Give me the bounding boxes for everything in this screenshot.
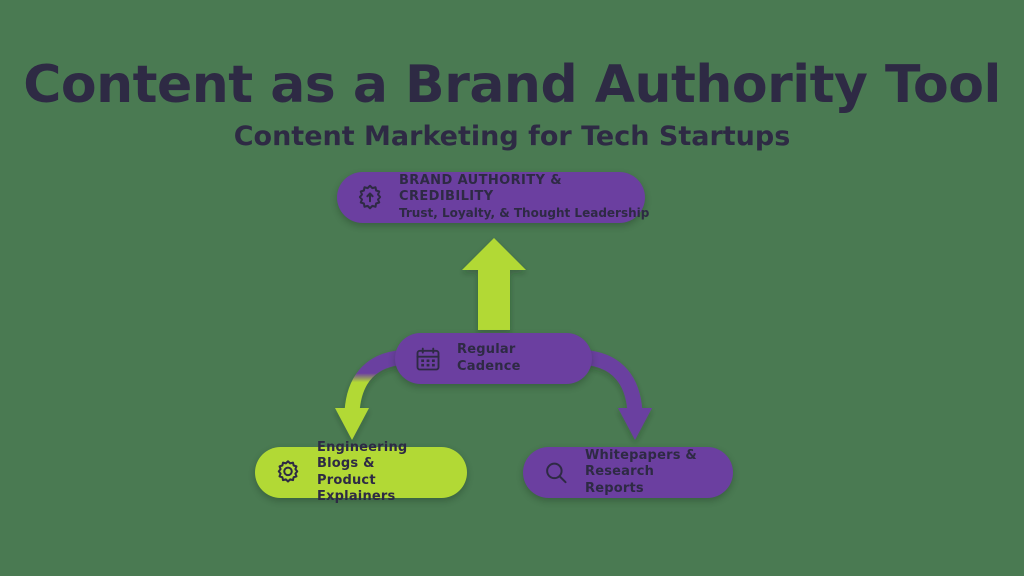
node-brand-authority-sublabel: Trust, Loyalty, & Thought Leadership (399, 206, 627, 222)
node-whitepapers-text: Whitepapers & Research Reports (585, 448, 715, 497)
calendar-icon (411, 342, 445, 376)
magnifier-icon (539, 456, 573, 490)
node-regular-cadence-label: Regular Cadence (457, 342, 574, 375)
page-subtitle: Content Marketing for Tech Startups (0, 121, 1024, 153)
node-regular-cadence[interactable]: Regular Cadence (395, 333, 592, 384)
arrow-cadence-to-whitepapers (590, 358, 652, 440)
node-engineering-blogs-text: Engineering Blogs & Product Explainers (317, 440, 449, 505)
title-block: Content as a Brand Authority Tool Conten… (0, 58, 1024, 153)
arrow-cadence-to-engineering (335, 358, 397, 440)
arrow-cadence-to-authority (462, 238, 526, 330)
node-brand-authority-label: BRAND AUTHORITY & CREDIBILITY (399, 173, 627, 206)
gear-up-arrow-icon (353, 181, 387, 215)
node-brand-authority-text: BRAND AUTHORITY & CREDIBILITY Trust, Loy… (399, 173, 627, 222)
node-brand-authority[interactable]: BRAND AUTHORITY & CREDIBILITY Trust, Loy… (337, 172, 645, 223)
node-whitepapers[interactable]: Whitepapers & Research Reports (523, 447, 733, 498)
diagram-canvas: Content as a Brand Authority Tool Conten… (0, 0, 1024, 576)
node-regular-cadence-text: Regular Cadence (457, 342, 574, 375)
node-whitepapers-label: Whitepapers & Research Reports (585, 448, 715, 497)
gear-icon (271, 456, 305, 490)
node-engineering-blogs[interactable]: Engineering Blogs & Product Explainers (255, 447, 467, 498)
page-title: Content as a Brand Authority Tool (0, 58, 1024, 113)
node-engineering-blogs-label: Engineering Blogs & Product Explainers (317, 440, 449, 505)
